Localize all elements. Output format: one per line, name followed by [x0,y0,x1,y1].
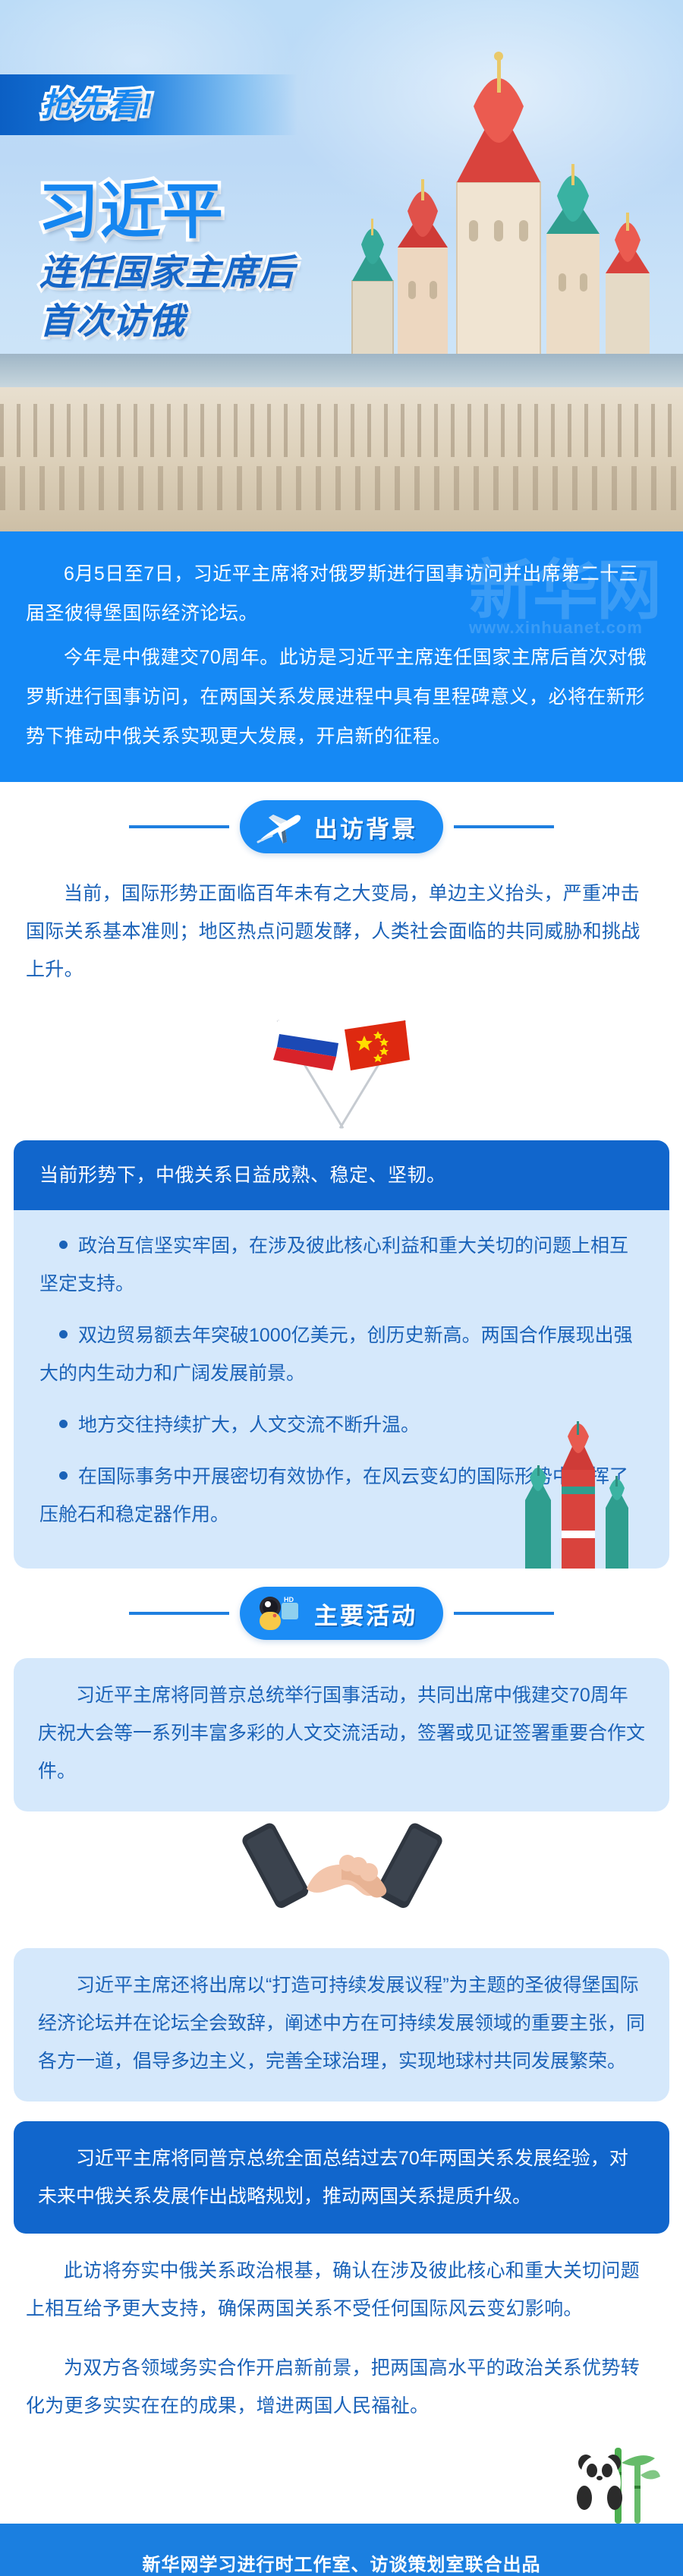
section-title-activities: 主要活动 [314,1597,417,1631]
activities-paragraph-4: 为双方各领域务实合作开启新前景，把两国高水平的政治关系优势转化为更多实实在在的成… [26,2349,657,2425]
activities-paragraph-card-1: 习近平主席将同普京总统举行国事活动，共同出席中俄建交70周年庆祝大会等一系列丰富… [14,1658,669,1811]
activities-paragraph-card-2: 习近平主席还将出席以“打造可持续发展议程”为主题的圣彼得堡国际经济论坛并在论坛全… [14,1948,669,2101]
activities-band-wrap: 习近平主席将同普京总统全面总结过去70年两国关系发展经验，对未来中俄关系发展作出… [0,2121,683,2234]
bullet-dot [59,1241,68,1249]
section-pill-background: 出访背景 [240,800,443,853]
activities-paragraph-2: 习近平主席还将出席以“打造可持续发展议程”为主题的圣彼得堡国际经济论坛并在论坛全… [38,1966,645,2080]
hero-subtitle-line2: 首次访俄 [39,292,185,344]
airplane-icon [257,809,304,845]
background-paragraph: 当前，国际形势正面临百年未有之大变局，单边主义抬头，严重冲击国际关系基本准则；地… [26,875,657,988]
list-item: 双边贸易额去年突破1000亿美元，创历史新高。两国合作展现出强大的内生动力和广阔… [39,1316,644,1392]
infographic-page: 抢先看! 习近平 连任国家主席后 首次访俄 新华网www.xinhuanet.c… [0,0,683,2576]
footer-produced-by: 新华网学习进行时工作室、访谈策划室联合出品 [0,2549,683,2576]
bullet-text: 双边贸易额去年突破1000亿美元，创历史新高。两国合作展现出强大的内生动力和广阔… [39,1325,633,1384]
china-flag [345,1020,410,1070]
activities-band: 习近平主席将同普京总统全面总结过去70年两国关系发展经验，对未来中俄关系发展作出… [14,2121,669,2234]
activities-paragraph-1: 习近平主席将同普京总统举行国事活动，共同出席中俄建交70周年庆祝大会等一系列丰富… [38,1676,645,1790]
intro-paragraph-1: 6月5日至7日，习近平主席将对俄罗斯进行国事访问并出席第二十三届圣彼得堡国际经济… [26,554,657,633]
handshake-illustration [0,1811,683,1948]
bullet-dot [59,1471,68,1480]
bullet-text: 政治互信坚实牢固，在涉及彼此核心利益和重大关切的问题上相互坚定支持。 [39,1235,628,1294]
flags-illustration [0,996,683,1140]
section-header-activities: HD 主要活动 [0,1569,683,1658]
activities-paragraph-3: 此访将夯实中俄关系政治根基，确认在涉及彼此核心和重大关切问题上相互给予更大支持，… [26,2252,657,2328]
hero-title: 习近平 [38,162,225,251]
background-detail-wrap: 当前形势下，中俄关系日益成熟、稳定、坚韧。 政治互信坚实牢固，在涉及彼此核心利益… [0,1140,683,1569]
background-paragraph-wrap: 当前，国际形势正面临百年未有之大变局，单边主义抬头，严重冲击国际关系基本准则；地… [0,872,683,996]
activities-card2-wrap: 习近平主席还将出席以“打造可持续发展议程”为主题的圣彼得堡国际经济论坛并在论坛全… [0,1948,683,2101]
activities-paragraph-3-wrap: 此访将夯实中俄关系政治根基，确认在涉及彼此核心和重大关切问题上相互给予更大支持，… [0,2234,683,2335]
hero-subtitle-line1: 连任国家主席后 [39,243,294,295]
section-pill-activities: HD 主要活动 [240,1587,443,1640]
st-basil-mini-illustration [495,1417,662,1569]
activities-band-text: 习近平主席将同普京总统全面总结过去70年两国关系发展经验，对未来中俄关系发展作出… [38,2139,645,2215]
rule-right [454,1612,554,1615]
background-band: 当前形势下，中俄关系日益成熟、稳定、坚韧。 [14,1140,669,1210]
panda-bamboo-illustration [0,2433,683,2524]
bullet-dot [59,1330,68,1338]
activities-paragraph-4-wrap: 为双方各领域务实合作开启新前景，把两国高水平的政治关系优势转化为更多实实在在的成… [0,2335,683,2433]
section-title-background: 出访背景 [314,810,417,844]
activities-card1-wrap: 习近平主席将同普京总统举行国事活动，共同出席中俄建交70周年庆祝大会等一系列丰富… [0,1658,683,1811]
intro-block: 新华网www.xinhuanet.com 6月5日至7日，习近平主席将对俄罗斯进… [0,531,683,782]
russia-flag [273,1020,338,1070]
gum-building-roof [0,354,683,387]
rule-left [129,825,229,828]
bullet-text: 地方交往持续扩大，人文交流不断升温。 [78,1414,420,1436]
hero-banner: 抢先看! 习近平 连任国家主席后 首次访俄 [0,0,683,531]
intro-paragraph-2: 今年是中俄建交70周年。此访是习近平主席连任国家主席后首次对俄罗斯进行国事访问，… [26,638,657,756]
hero-badge: 抢先看! [41,79,153,125]
background-band-text: 当前形势下，中俄关系日益成熟、稳定、坚韧。 [39,1160,644,1190]
footer: 新华网学习进行时工作室、访谈策划室联合出品 文案：金佳绪、程瑶制图设计：邓豪俣 [0,2524,683,2576]
hd-badge-label: HD [284,1596,294,1603]
spacer [0,2101,683,2121]
section-header-background: 出访背景 [0,782,683,872]
video-camera-icon: HD [257,1595,304,1632]
rule-left [129,1612,229,1615]
flag-pair-svg [243,1007,440,1136]
panda [577,2455,622,2510]
background-bullets-card: 政治互信坚实牢固，在涉及彼此核心利益和重大关切的问题上相互坚定支持。 双边贸易额… [14,1210,669,1569]
list-item: 政治互信坚实牢固，在涉及彼此核心利益和重大关切的问题上相互坚定支持。 [39,1227,644,1303]
bullet-dot [59,1420,68,1428]
rule-right [454,825,554,828]
panda-bamboo-svg [524,2433,660,2524]
handshake-svg [228,1816,455,1930]
gum-building [0,387,683,531]
